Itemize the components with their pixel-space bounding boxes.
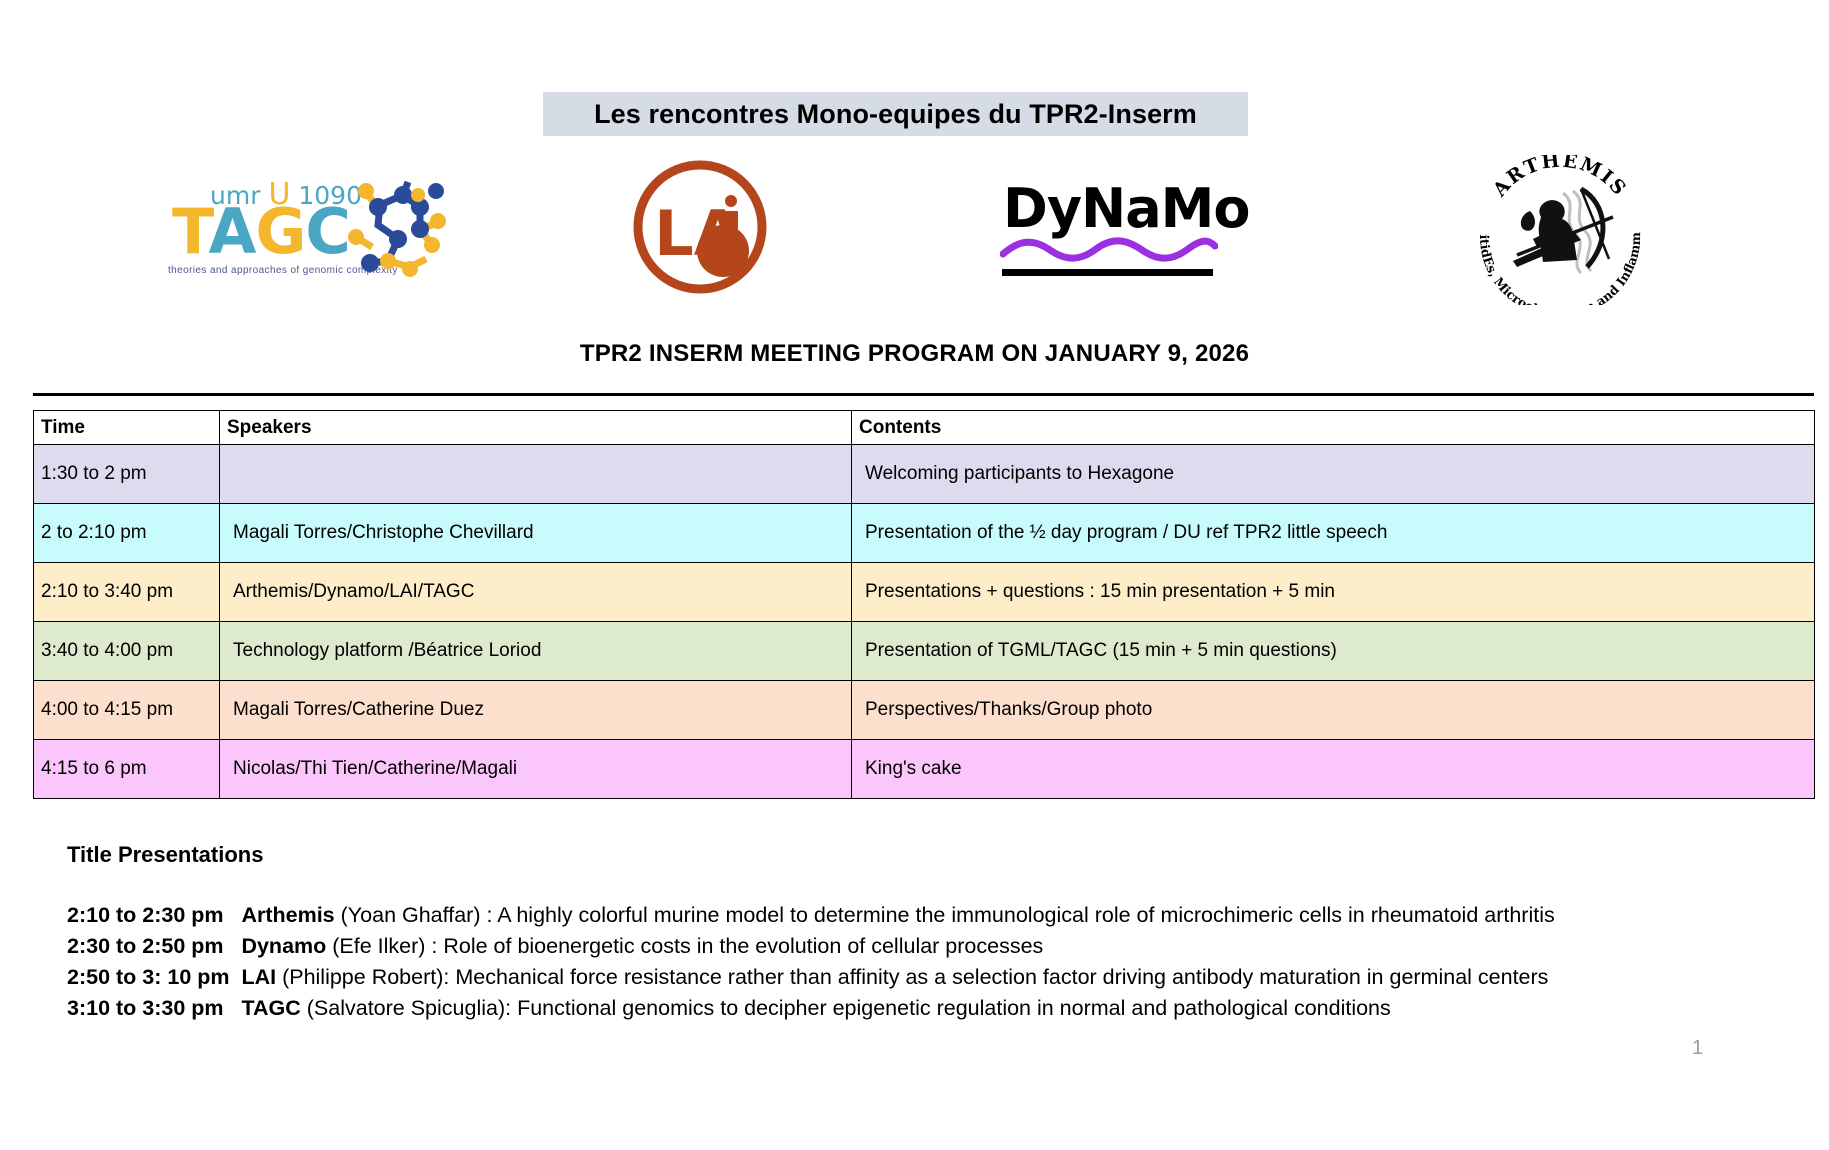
presentations-heading: Title Presentations [67, 842, 1807, 868]
dynamo-underline [1002, 269, 1213, 276]
title-presentations-section: Title Presentations 2:10 to 2:30 pm Arth… [67, 842, 1807, 1024]
arthemis-logo: ARTHEMIS ARTHritidEs, Microchimerism and… [1455, 155, 1665, 305]
table-row: 3:40 to 4:00 pm Technology platform /Béa… [34, 622, 1815, 681]
dynamo-wordmark: DyNaMo [1003, 177, 1250, 240]
presentation-time: 2:30 to 2:50 pm [67, 934, 224, 958]
presentation-team: Dynamo [241, 934, 326, 958]
program-table-wrapper: Time Speakers Contents 1:30 to 2 pm Welc… [33, 393, 1814, 799]
cell-contents: King's cake [852, 740, 1815, 799]
column-header-speakers: Speakers [220, 411, 852, 445]
cell-contents: Welcoming participants to Hexagone [852, 445, 1815, 504]
program-table: Time Speakers Contents 1:30 to 2 pm Welc… [33, 410, 1815, 799]
presentation-line: 2:50 to 3: 10 pm LAI (Philippe Robert): … [67, 962, 1807, 993]
table-top-rule [33, 393, 1814, 396]
page-number: 1 [1692, 1037, 1703, 1060]
table-header-row: Time Speakers Contents [34, 411, 1815, 445]
tagc-acronym: TAGC [172, 201, 350, 263]
presentation-detail: (Efe Ilker) : Role of bioenergetic costs… [326, 934, 1043, 958]
cell-speakers: Magali Torres/Christophe Chevillard [220, 504, 852, 563]
cell-contents: Presentation of TGML/TAGC (15 min + 5 mi… [852, 622, 1815, 681]
table-body: 1:30 to 2 pm Welcoming participants to H… [34, 445, 1815, 799]
presentation-detail: (Yoan Ghaffar) : A highly colorful murin… [335, 903, 1555, 927]
svg-text:ARTHEMIS: ARTHEMIS [1488, 155, 1631, 202]
column-header-time: Time [34, 411, 220, 445]
column-header-contents: Contents [852, 411, 1815, 445]
cell-time: 2:10 to 3:40 pm [34, 563, 220, 622]
cell-contents: Perspectives/Thanks/Group photo [852, 681, 1815, 740]
cell-time: 1:30 to 2 pm [34, 445, 220, 504]
table-row: 1:30 to 2 pm Welcoming participants to H… [34, 445, 1815, 504]
cell-contents: Presentations + questions : 15 min prese… [852, 563, 1815, 622]
presentation-time: 2:50 to 3: 10 pm [67, 965, 230, 989]
cell-speakers [220, 445, 852, 504]
dynamo-logo: DyNaMo [1000, 177, 1230, 287]
cell-time: 3:40 to 4:00 pm [34, 622, 220, 681]
dynamo-wave-icon [1000, 237, 1218, 263]
presentation-detail: (Salvatore Spicuglia): Functional genomi… [301, 996, 1391, 1020]
table-row: 4:00 to 4:15 pm Magali Torres/Catherine … [34, 681, 1815, 740]
tagc-logo: umr U 1090 TAGC theories and approaches … [158, 167, 448, 287]
presentation-team: Arthemis [241, 903, 334, 927]
presentation-line: 3:10 to 3:30 pm TAGC (Salvatore Spicugli… [67, 993, 1807, 1024]
cell-speakers: Technology platform /Béatrice Loriod [220, 622, 852, 681]
presentation-detail: (Philippe Robert): Mechanical force resi… [276, 965, 1548, 989]
table-row: 2 to 2:10 pm Magali Torres/Christophe Ch… [34, 504, 1815, 563]
presentation-team: LAI [241, 965, 276, 989]
logo-row: umr U 1090 TAGC theories and approaches … [0, 155, 1829, 315]
program-heading: TPR2 INSERM MEETING PROGRAM ON JANUARY 9… [0, 340, 1829, 368]
cell-time: 4:00 to 4:15 pm [34, 681, 220, 740]
presentation-team: TAGC [241, 996, 300, 1020]
cell-speakers: Arthemis/Dynamo/LAI/TAGC [220, 563, 852, 622]
table-row: 2:10 to 3:40 pm Arthemis/Dynamo/LAI/TAGC… [34, 563, 1815, 622]
cell-speakers: Nicolas/Thi Tien/Catherine/Magali [220, 740, 852, 799]
cell-time: 2 to 2:10 pm [34, 504, 220, 563]
presentation-time: 3:10 to 3:30 pm [67, 996, 224, 1020]
presentation-line: 2:30 to 2:50 pm Dynamo (Efe Ilker) : Rol… [67, 931, 1807, 962]
slide-title: Les rencontres Mono-equipes du TPR2-Inse… [594, 99, 1197, 130]
cell-speakers: Magali Torres/Catherine Duez [220, 681, 852, 740]
slide-title-banner: Les rencontres Mono-equipes du TPR2-Inse… [543, 92, 1248, 136]
arthemis-seal-icon: ARTHEMIS ARTHritidEs, Microchimerism and… [1455, 155, 1665, 305]
cell-contents: Presentation of the ½ day program / DU r… [852, 504, 1815, 563]
tagc-molecule-icon [348, 177, 448, 289]
cell-time: 4:15 to 6 pm [34, 740, 220, 799]
lai-logo: LA [620, 155, 780, 305]
table-row: 4:15 to 6 pm Nicolas/Thi Tien/Catherine/… [34, 740, 1815, 799]
lai-circle-icon: LA [620, 155, 780, 305]
presentation-line: 2:10 to 2:30 pm Arthemis (Yoan Ghaffar) … [67, 900, 1807, 931]
presentation-time: 2:10 to 2:30 pm [67, 903, 224, 927]
